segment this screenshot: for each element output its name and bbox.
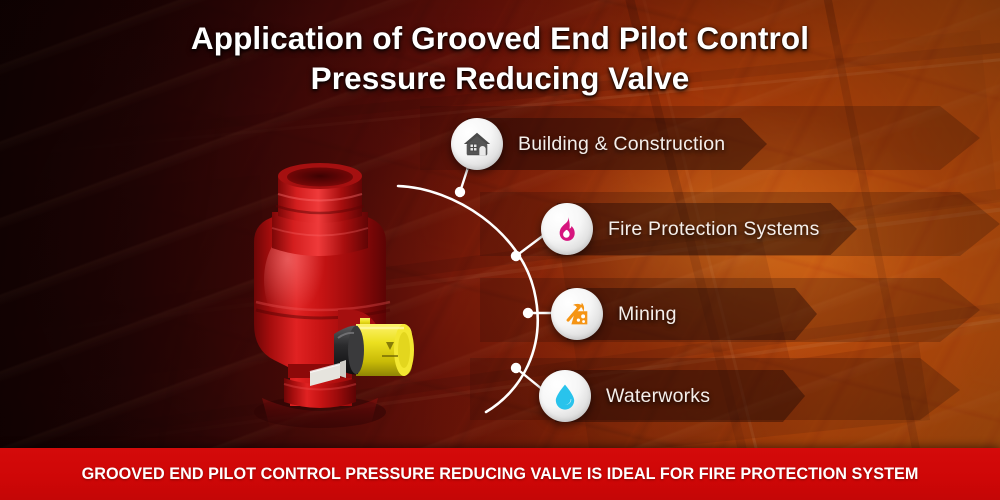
house-icon: [462, 129, 492, 159]
building-construction-icon-circle[interactable]: [451, 118, 503, 170]
application-label: Fire Protection Systems: [608, 218, 820, 241]
water-drop-icon: [551, 382, 579, 410]
title-line-1: Application of Grooved End Pilot Control: [120, 18, 880, 58]
footer-text: GROOVED END PILOT CONTROL PRESSURE REDUC…: [82, 465, 919, 484]
application-label: Mining: [618, 303, 677, 326]
application-item-mining[interactable]: Mining: [551, 288, 677, 340]
application-label: Waterworks: [606, 385, 710, 408]
application-item-fire-protection-systems[interactable]: Fire Protection Systems: [541, 203, 820, 255]
application-item-waterworks[interactable]: Waterworks: [539, 370, 710, 422]
application-item-building-construction[interactable]: Building & Construction: [451, 118, 725, 170]
flame-icon: [553, 215, 581, 243]
fire-protection-icon-circle[interactable]: [541, 203, 593, 255]
title-line-2: Pressure Reducing Valve: [120, 58, 880, 98]
waterworks-icon-circle[interactable]: [539, 370, 591, 422]
banner-title: Application of Grooved End Pilot Control…: [120, 18, 880, 98]
application-label: Building & Construction: [518, 133, 725, 156]
item-chevron-backdrop: [567, 288, 817, 340]
footer-banner: GROOVED END PILOT CONTROL PRESSURE REDUC…: [0, 448, 1000, 500]
application-banner: Application of Grooved End Pilot Control…: [0, 0, 1000, 500]
mining-icon-circle[interactable]: [551, 288, 603, 340]
mining-icon: [562, 299, 592, 329]
product-image-valve: [210, 150, 460, 435]
